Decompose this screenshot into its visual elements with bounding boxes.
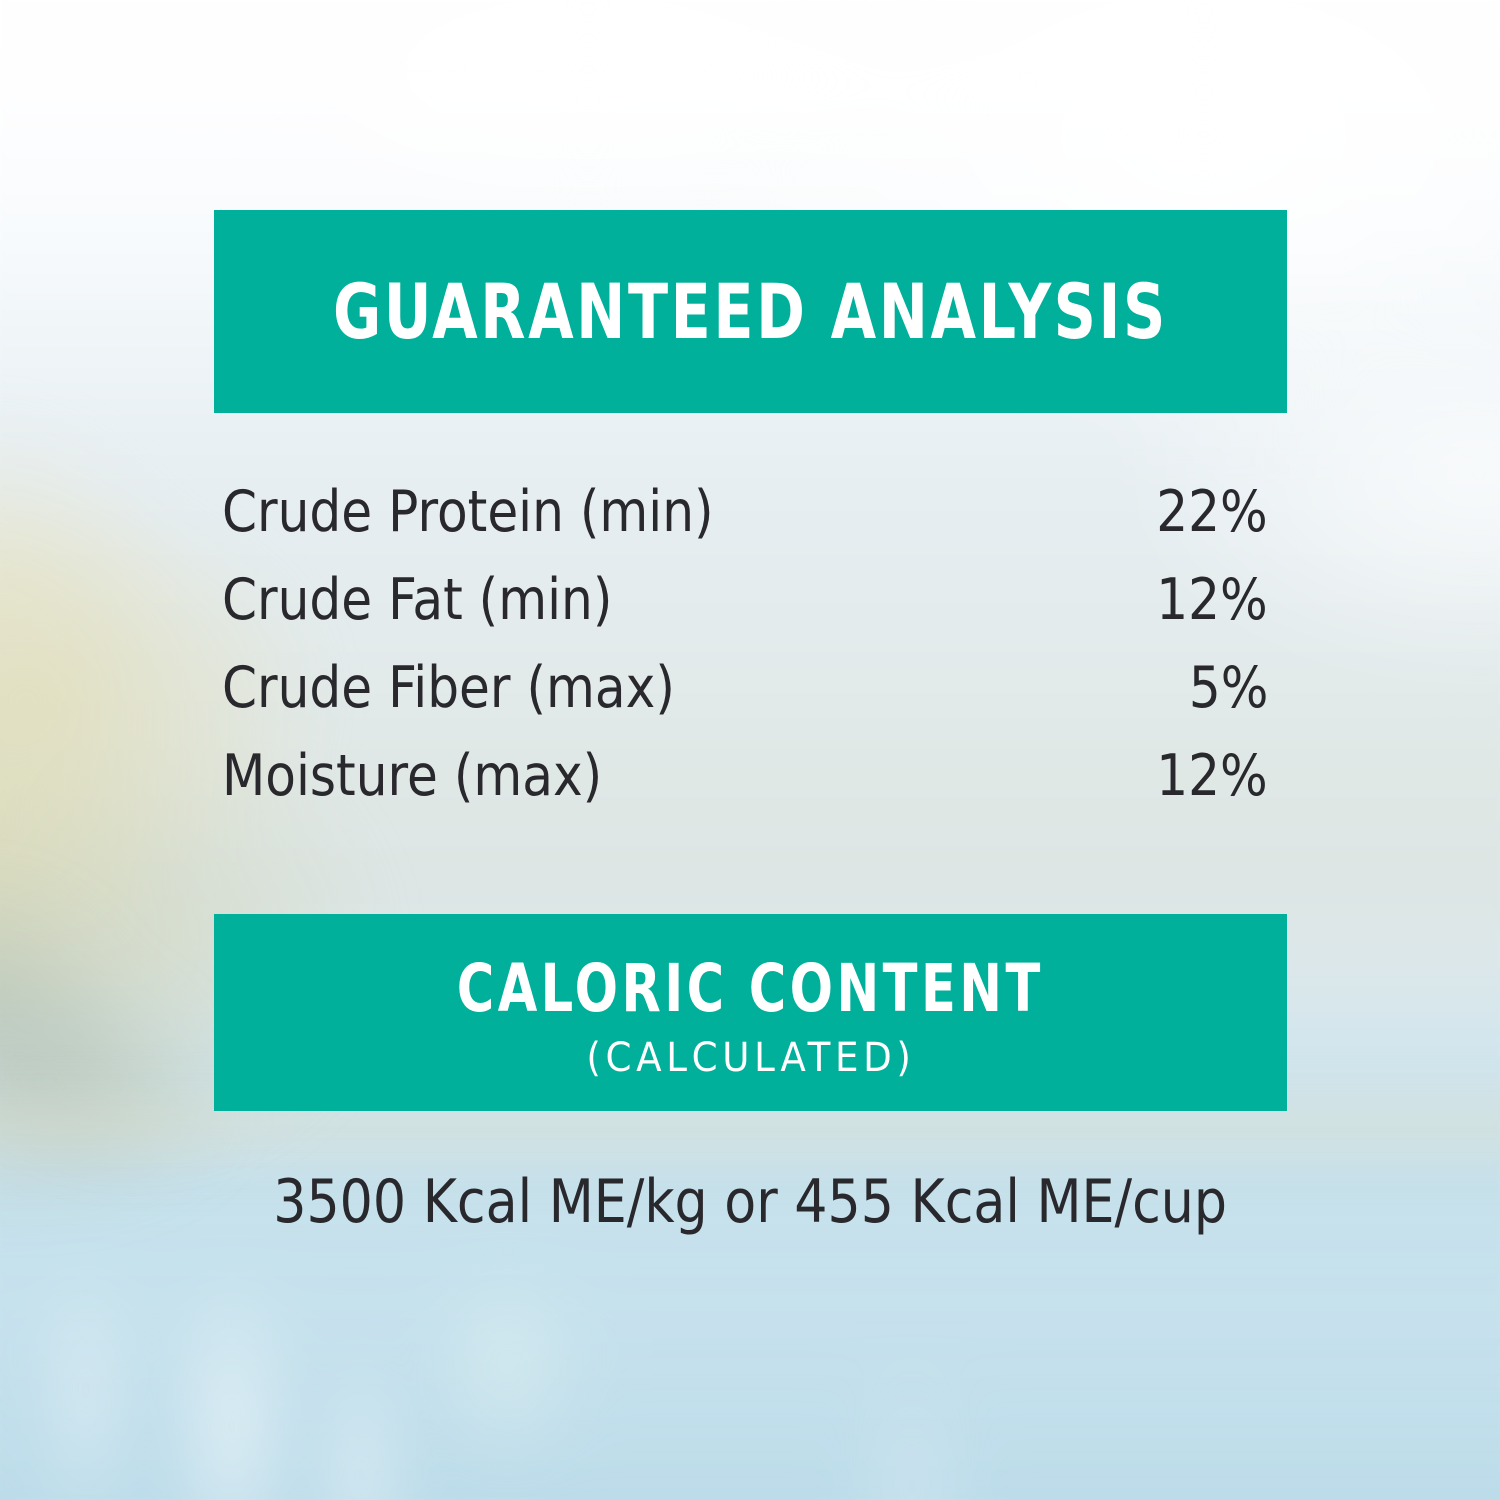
nutrient-value: 5% [1188,644,1268,732]
table-row: Moisture (max) 12% [222,732,1268,820]
pet-food-label-panel: GUARANTEED ANALYSIS Crude Protein (min) … [0,0,1500,1500]
caloric-content-value: 3500 Kcal ME/kg or 455 Kcal ME/cup [0,1168,1500,1237]
table-row: Crude Fat (min) 12% [222,556,1268,644]
guaranteed-analysis-banner: GUARANTEED ANALYSIS [214,210,1287,413]
table-row: Crude Fiber (max) 5% [222,644,1268,732]
caloric-content-value-text: 3500 Kcal ME/kg or 455 Kcal ME/cup [273,1168,1227,1237]
nutrient-label: Crude Protein (min) [222,468,714,556]
guaranteed-analysis-table: Crude Protein (min) 22% Crude Fat (min) … [222,468,1268,820]
table-row: Crude Protein (min) 22% [222,468,1268,556]
nutrient-value: 12% [1157,556,1268,644]
nutrient-label: Crude Fat (min) [222,556,612,644]
nutrient-label: Moisture (max) [222,732,602,820]
nutrient-value: 12% [1157,732,1268,820]
caloric-content-banner: CALORIC CONTENT (CALCULATED) [214,914,1287,1111]
nutrient-label: Crude Fiber (max) [222,644,675,732]
caloric-content-heading: CALORIC CONTENT [457,956,1044,1022]
nutrient-value: 22% [1157,468,1268,556]
caloric-content-subheading: (CALCULATED) [586,1038,915,1078]
guaranteed-analysis-heading: GUARANTEED ANALYSIS [333,274,1168,350]
label-content: GUARANTEED ANALYSIS Crude Protein (min) … [0,0,1500,1500]
